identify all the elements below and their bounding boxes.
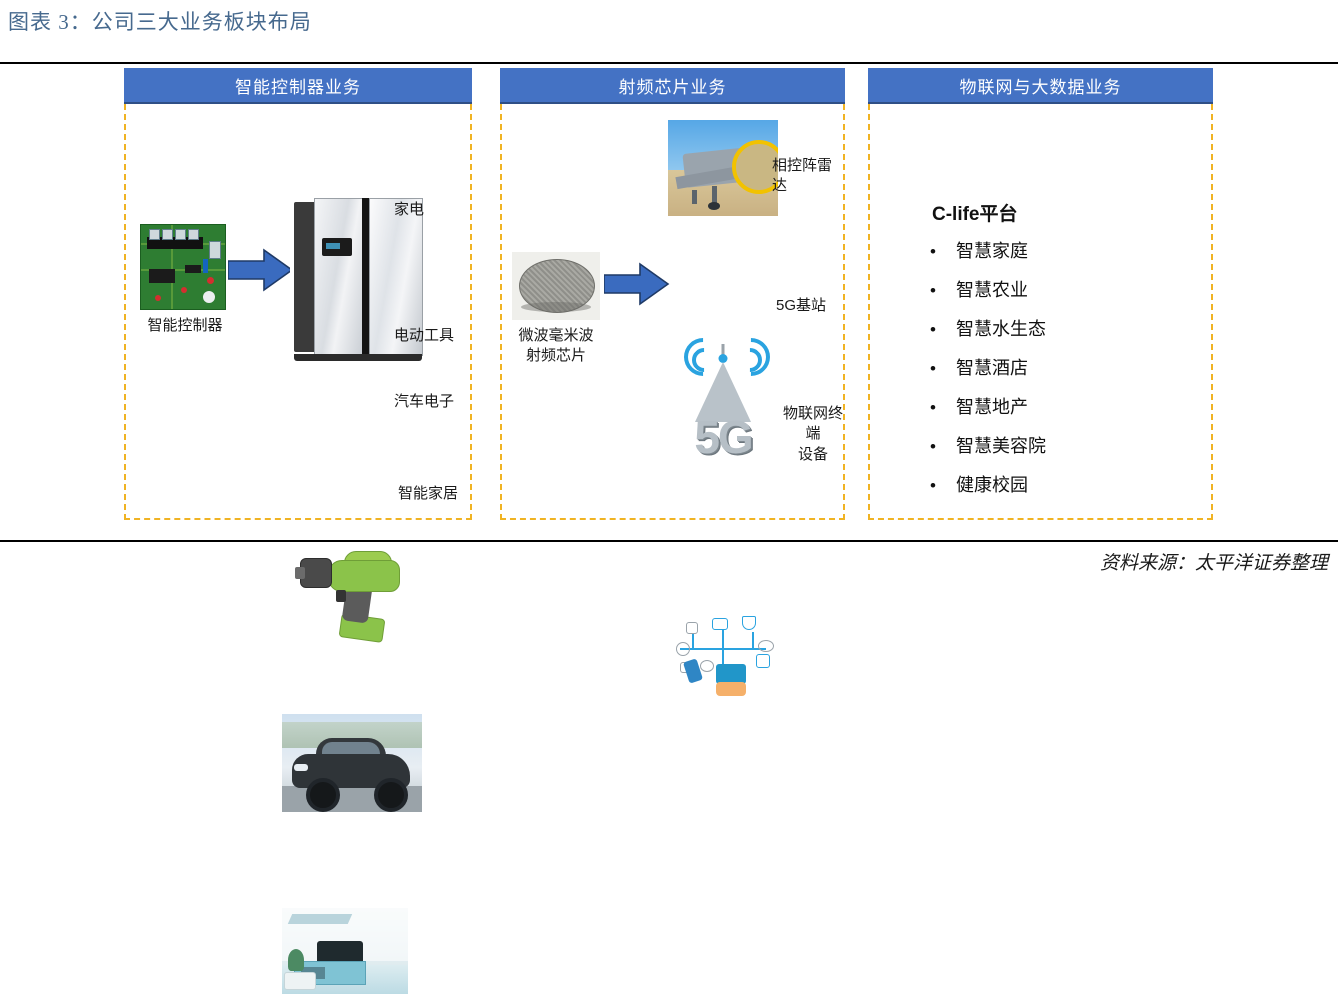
label-power-tools: 电动工具 (394, 326, 454, 346)
label-phased-array-radar: 相控阵雷达 (772, 156, 843, 197)
business-column-smart-controller: 智能控制器业务 智能控制器 (124, 68, 472, 520)
business-column-iot-bigdata: 物联网与大数据业务 C-life平台 •智慧家庭 •智慧农业 •智慧水生态 •智… (868, 68, 1213, 520)
5g-base-station-image: 5G (670, 328, 776, 462)
iot-terminal-devices-image (664, 602, 782, 698)
bullet-icon: • (930, 232, 956, 271)
list-item-label: 智慧家庭 (956, 232, 1028, 271)
right-arrow-icon-col1 (228, 248, 294, 292)
label-smart-home: 智能家居 (398, 484, 458, 504)
right-arrow-icon-col2 (604, 262, 670, 306)
label-mmwave-rf-chip: 微波毫米波 射频芯片 (504, 326, 608, 367)
label-5g-base-station: 5G基站 (776, 296, 826, 316)
list-item: •智慧美容院 (930, 427, 1046, 466)
bullet-icon: • (930, 349, 956, 388)
list-item: •健康校园 (930, 466, 1046, 505)
car-image (282, 714, 422, 812)
phased-array-radar-jet-image (668, 120, 778, 216)
label-iot-terminal-devices: 物联网终端 设备 (778, 404, 848, 465)
bullet-icon: • (930, 271, 956, 310)
list-item-label: 智慧地产 (956, 388, 1028, 427)
business-column-rf-chip: 射频芯片业务 微波毫米波 射频芯片 (500, 68, 845, 520)
list-item: •智慧家庭 (930, 232, 1046, 271)
platform-title: C-life平台 (932, 199, 1018, 226)
silicon-wafer-image (512, 252, 600, 320)
column-body-iot-bigdata: C-life平台 •智慧家庭 •智慧农业 •智慧水生态 •智慧酒店 •智慧地产 … (868, 104, 1213, 520)
bullet-icon: • (930, 427, 956, 466)
list-item-label: 智慧美容院 (956, 427, 1046, 466)
list-item: •智慧酒店 (930, 349, 1046, 388)
list-item-label: 智慧水生态 (956, 310, 1046, 349)
column-header-smart-controller: 智能控制器业务 (124, 68, 472, 104)
power-drill-image (292, 542, 416, 646)
pcb-controller-board-image (140, 224, 226, 310)
list-item: •智慧地产 (930, 388, 1046, 427)
column-header-iot-bigdata: 物联网与大数据业务 (868, 68, 1213, 104)
list-item: •智慧农业 (930, 271, 1046, 310)
figure-title: 图表 3：公司三大业务板块布局 (8, 6, 312, 36)
figure-source: 资料来源：太平洋证券整理 (1100, 548, 1328, 575)
smart-home-living-room-image (282, 908, 408, 994)
list-item: •智慧水生态 (930, 310, 1046, 349)
list-item-label: 智慧酒店 (956, 349, 1028, 388)
top-divider-rule (0, 62, 1338, 64)
platform-application-list: •智慧家庭 •智慧农业 •智慧水生态 •智慧酒店 •智慧地产 •智慧美容院 •健… (930, 232, 1046, 505)
label-home-appliance: 家电 (394, 200, 424, 220)
label-smart-controller: 智能控制器 (130, 316, 240, 336)
column-body-smart-controller: 智能控制器 家电 电动工具 汽车电子 智能家居 (124, 104, 472, 520)
bullet-icon: • (930, 310, 956, 349)
bullet-icon: • (930, 388, 956, 427)
column-header-rf-chip: 射频芯片业务 (500, 68, 845, 104)
list-item-label: 智慧农业 (956, 271, 1028, 310)
bullet-icon: • (930, 466, 956, 505)
figure-container: 图表 3：公司三大业务板块布局 智能控制器业务 (0, 0, 1338, 581)
column-body-rf-chip: 微波毫米波 射频芯片 相控阵雷达 (500, 104, 845, 520)
label-automotive-electronics: 汽车电子 (394, 392, 454, 412)
bottom-divider-rule (0, 540, 1338, 542)
list-item-label: 健康校园 (956, 466, 1028, 505)
